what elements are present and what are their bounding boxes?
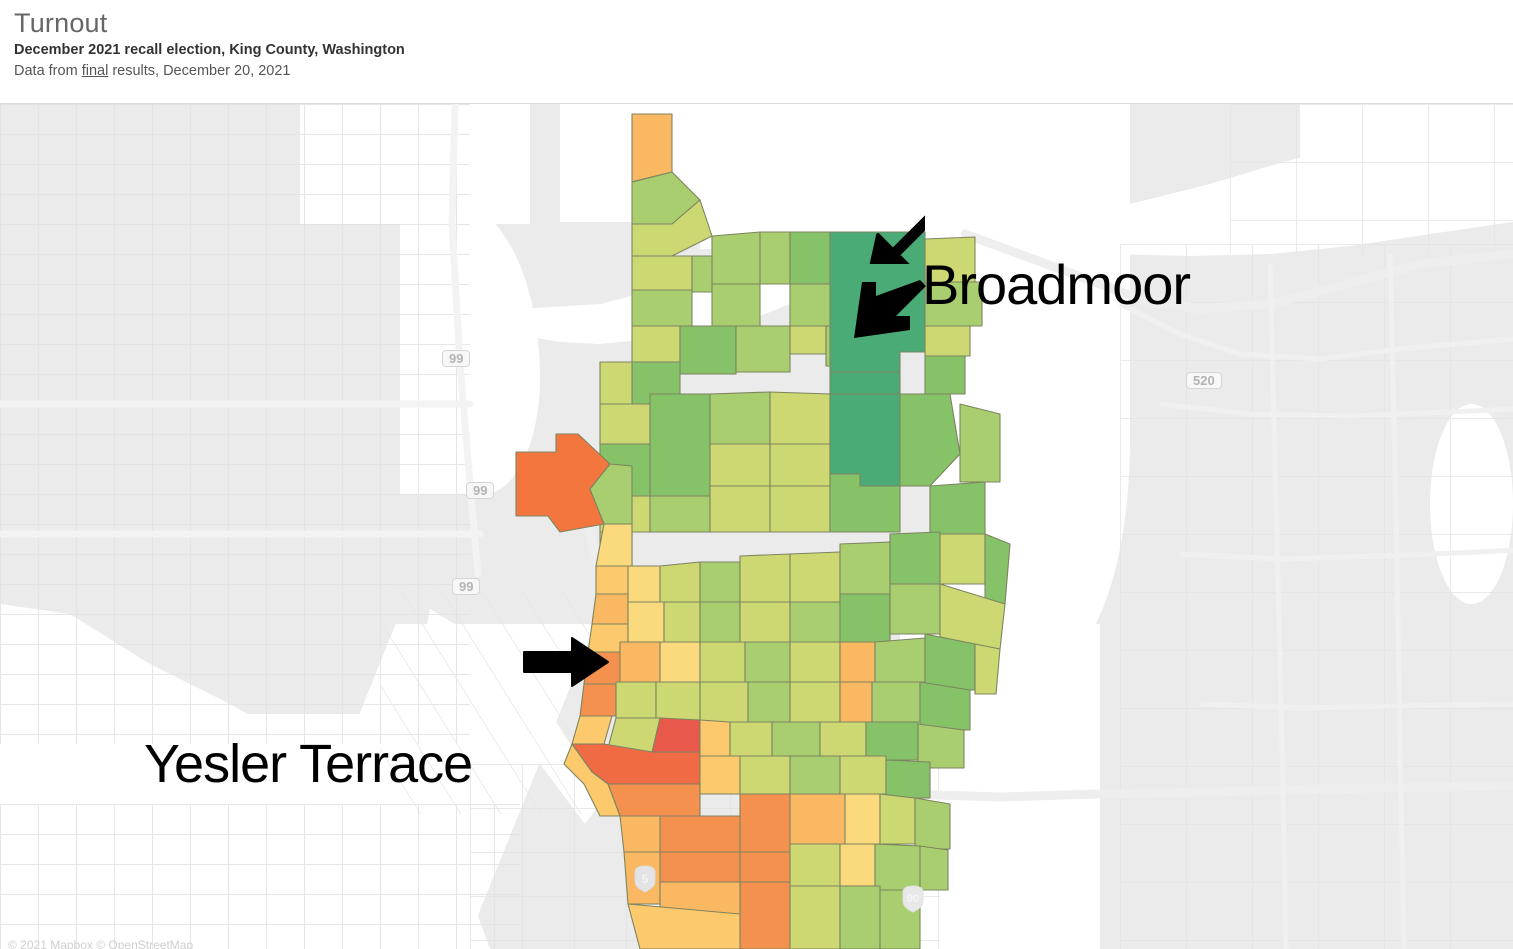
precinct [880, 794, 915, 844]
precinct [760, 232, 790, 284]
precinct [820, 722, 866, 756]
precinct [790, 232, 830, 284]
precinct [692, 256, 712, 292]
page-title: Turnout [14, 8, 1513, 38]
precinct [790, 284, 830, 326]
precinct [650, 496, 710, 532]
precinct [620, 816, 660, 852]
precinct [840, 594, 890, 642]
arrow-down-left-icon [845, 164, 925, 264]
precinct [985, 534, 1010, 604]
precinct [770, 444, 830, 486]
precinct [664, 602, 700, 642]
precinct [866, 722, 918, 760]
shield-label: 99 [449, 352, 463, 365]
data-source-suffix: results, December 20, 2021 [108, 63, 290, 79]
header: Turnout December 2021 recall election, K… [0, 0, 1513, 104]
final-results-link[interactable]: final [82, 63, 109, 79]
shield-label: 520 [1193, 374, 1215, 387]
precinct [790, 326, 826, 354]
precinct [975, 644, 1000, 694]
precinct [710, 444, 770, 486]
precinct [790, 602, 840, 642]
precinct [772, 722, 820, 756]
precinct [790, 552, 840, 602]
shield-i90: 90 [900, 884, 926, 914]
precinct [790, 682, 840, 722]
precinct [930, 482, 985, 534]
arrow-down-left-icon-outline [848, 274, 928, 354]
precinct [700, 756, 740, 794]
precinct [700, 562, 740, 602]
precinct [925, 326, 970, 356]
precinct [656, 682, 700, 720]
precinct [650, 394, 710, 496]
precinct [710, 392, 770, 444]
precinct [770, 486, 830, 532]
precinct [736, 326, 790, 372]
precinct [680, 326, 736, 374]
precinct [925, 356, 965, 394]
precinct [608, 784, 700, 816]
precinct [700, 720, 730, 756]
shield-520: 520 [1186, 372, 1222, 389]
precinct [660, 642, 700, 682]
precinct [712, 232, 760, 284]
precinct [740, 756, 790, 794]
map-viewport[interactable]: 99 99 99 520 5 90 Broadmoor Yesler Terra… [0, 104, 1513, 949]
precinct [845, 794, 880, 844]
precinct [632, 290, 692, 326]
data-source-prefix: Data from [14, 63, 82, 79]
shield-label: 90 [900, 884, 926, 914]
precinct [840, 542, 890, 594]
precinct [840, 642, 875, 682]
precinct [730, 722, 772, 756]
precinct [890, 532, 940, 584]
precinct [915, 798, 950, 849]
precinct [875, 638, 925, 682]
annotation-broadmoor-label: Broadmoor [922, 252, 1190, 317]
precinct [740, 882, 790, 949]
precinct [745, 642, 790, 682]
precinct [900, 394, 960, 486]
precinct [790, 642, 840, 682]
shield-99-mid: 99 [466, 482, 494, 499]
precinct [790, 844, 840, 886]
precinct [872, 682, 920, 722]
precinct [592, 594, 628, 624]
precinct [700, 642, 745, 682]
shield-99-north: 99 [442, 350, 470, 367]
precinct [890, 584, 940, 634]
shield-i5: 5 [632, 864, 658, 894]
precinct [740, 602, 790, 642]
shield-label: 99 [473, 484, 487, 497]
precinct [572, 716, 612, 744]
precinct [632, 326, 680, 362]
precinct-choropleth[interactable] [0, 104, 1513, 949]
precinct [940, 534, 985, 584]
annotation-yesler-terrace-label: Yesler Terrace [144, 733, 472, 795]
precinct [740, 554, 790, 602]
precinct [840, 844, 875, 886]
precinct [790, 886, 840, 949]
precinct [632, 114, 672, 182]
precinct [840, 886, 880, 949]
precinct [770, 392, 830, 444]
precinct [710, 486, 770, 532]
precinct [620, 642, 660, 682]
page-subtitle: December 2021 recall election, King Coun… [14, 40, 1513, 60]
precinct [628, 566, 660, 602]
map-attribution: © 2021 Mapbox © OpenStreetMap [8, 938, 193, 949]
precinct [628, 602, 664, 642]
precinct [600, 362, 632, 404]
arrow-right-icon [522, 632, 612, 692]
precinct [740, 794, 790, 852]
precinct [596, 566, 632, 594]
data-source-note: Data from final results, December 20, 20… [14, 61, 1513, 81]
precinct [632, 256, 692, 290]
precinct [925, 634, 975, 690]
precinct [790, 794, 845, 844]
shield-label: 99 [459, 580, 473, 593]
precinct [886, 760, 930, 798]
precinct [840, 682, 872, 722]
precinct [660, 852, 740, 882]
precinct [712, 284, 760, 326]
precinct [700, 602, 740, 642]
map-canvas[interactable]: 99 99 99 520 5 90 Broadmoor Yesler Terra… [0, 104, 1513, 949]
precinct [830, 372, 900, 394]
precinct [660, 562, 700, 602]
shield-99-south: 99 [452, 578, 480, 595]
precinct [740, 852, 790, 882]
precinct [960, 404, 1000, 482]
precinct [830, 394, 900, 486]
shield-label: 5 [632, 864, 658, 894]
precinct [616, 682, 656, 718]
precinct [790, 756, 840, 794]
precinct [660, 816, 740, 852]
precinct [600, 404, 650, 444]
precinct [700, 682, 748, 722]
precinct [748, 682, 790, 722]
precinct [920, 682, 970, 730]
precinct [840, 756, 886, 794]
